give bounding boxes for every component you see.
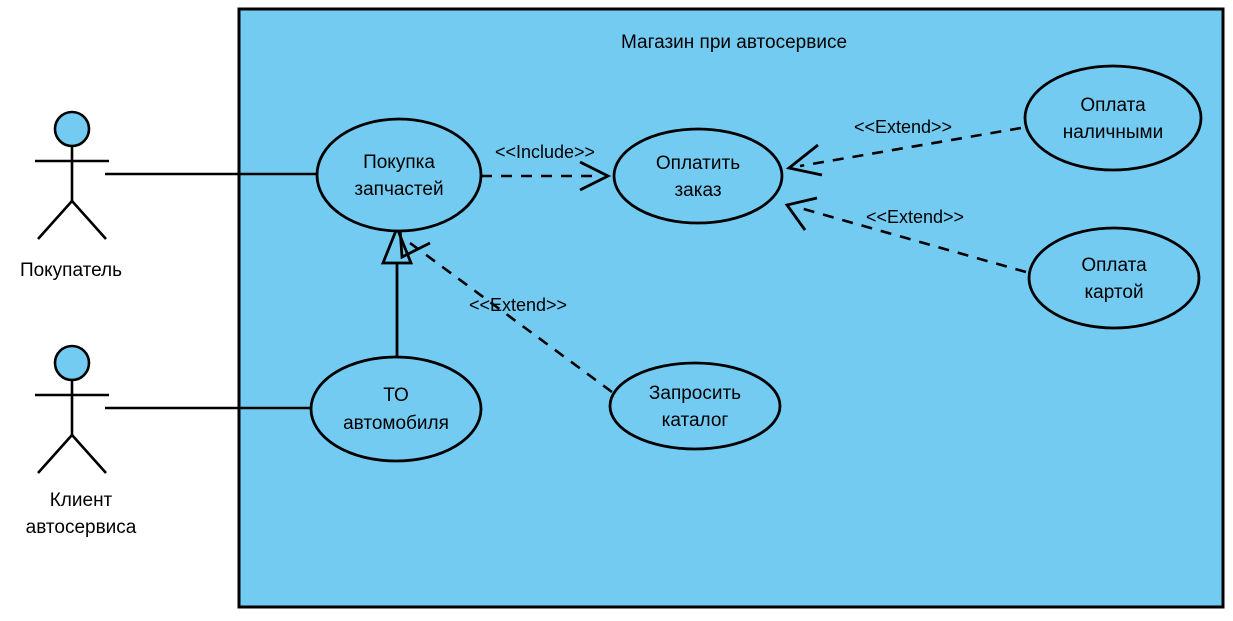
actor-service-client-label-line1: Клиент [50,490,113,511]
actor-left-leg-line [38,435,72,473]
actor-head-icon [55,112,89,146]
use-case-pay-cash[interactable]: Оплата наличными [1025,66,1201,170]
use-case-diagram: Магазин при автосервисе Покупатель Клиен… [0,0,1233,621]
actor-head-icon [55,346,89,380]
actor-buyer-label: Покупатель [20,260,122,281]
use-case-request-catalog[interactable]: Запросить каталог [610,363,780,449]
include-label-buy-parts-pay-order: <<Include>> [495,142,595,162]
actor-buyer: Покупатель [20,112,122,281]
extend-label-pay-cash-pay-order: <<Extend>> [854,117,952,137]
actor-service-client-label-line2: автосервиса [26,517,137,538]
use-case-car-maintenance[interactable]: ТО автомобиля [311,357,481,461]
use-case-buy-parts[interactable]: Покупка запчастей [317,119,481,231]
use-case-pay-order-label-line2: заказ [674,180,721,201]
use-case-ellipse[interactable] [614,129,782,223]
use-case-pay-card[interactable]: Оплата картой [1029,228,1199,328]
extend-label-request-catalog-buy-parts: <<Extend>> [469,295,567,315]
use-case-ellipse[interactable] [317,119,481,231]
actor-left-leg-line [38,201,72,239]
actor-service-client: Клиент автосервиса [26,346,137,538]
use-case-buy-parts-label-line2: запчастей [354,179,443,200]
use-case-pay-card-label-line2: картой [1084,282,1143,303]
use-case-pay-order[interactable]: Оплатить заказ [614,129,782,223]
use-case-request-catalog-label-line2: каталог [662,410,729,431]
use-case-ellipse[interactable] [1029,228,1199,328]
use-case-pay-cash-label-line1: Оплата [1080,95,1146,116]
use-case-car-maintenance-label-line2: автомобиля [343,413,449,434]
diagram-canvas: Магазин при автосервисе Покупатель Клиен… [0,0,1233,621]
use-case-request-catalog-label-line1: Запросить [649,383,741,404]
use-case-pay-order-label-line1: Оплатить [656,153,740,174]
actor-right-leg-line [72,435,106,473]
use-case-buy-parts-label-line1: Покупка [363,152,435,173]
use-case-car-maintenance-label-line1: ТО [383,385,409,406]
use-case-pay-card-label-line1: Оплата [1081,255,1147,276]
use-case-ellipse[interactable] [610,363,780,449]
actor-right-leg-line [72,201,106,239]
use-case-pay-cash-label-line2: наличными [1063,122,1163,143]
extend-label-pay-card-pay-order: <<Extend>> [866,207,964,227]
system-boundary-title: Магазин при автосервисе [621,32,847,53]
use-case-ellipse[interactable] [1025,66,1201,170]
use-case-ellipse[interactable] [311,357,481,461]
